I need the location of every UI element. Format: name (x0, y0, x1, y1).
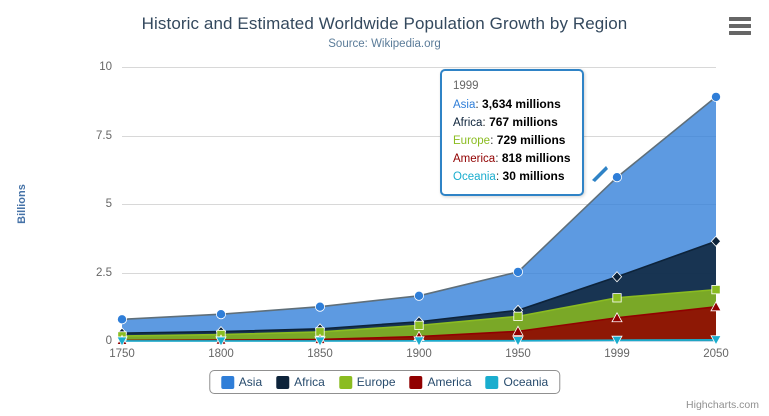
legend-item-africa[interactable]: Africa (276, 375, 325, 389)
x-axis-tick-label: 1999 (604, 348, 630, 360)
x-axis-tick-label: 1950 (505, 348, 531, 360)
legend-swatch-icon (486, 376, 499, 389)
tooltip-series-name: Europe (453, 135, 490, 147)
y-axis-title: Billions (16, 184, 28, 224)
tooltip-row: Asia: 3,634 millions (453, 96, 571, 114)
tooltip-series-name: Africa (453, 117, 482, 129)
menu-bar-1 (729, 17, 751, 21)
tooltip-series-value: 767 millions (489, 115, 558, 129)
tooltip-separator: : (490, 133, 497, 147)
x-axis-tick-label: 1800 (208, 348, 234, 360)
hamburger-menu-icon[interactable] (729, 17, 751, 35)
legend-label: America (428, 375, 472, 389)
legend-item-oceania[interactable]: Oceania (486, 375, 549, 389)
x-axis-tick-label: 1750 (109, 348, 135, 360)
tooltip-series-value: 818 millions (502, 151, 571, 165)
tooltip-series-name: Oceania (453, 171, 496, 183)
tooltip-series-value: 30 millions (503, 169, 565, 183)
legend-label: Oceania (504, 375, 549, 389)
y-axis-tick-label: 5 (106, 198, 112, 210)
legend-item-asia[interactable]: Asia (221, 375, 262, 389)
data-tooltip: 1999 Asia: 3,634 millionsAfrica: 767 mil… (440, 69, 584, 196)
legend-label: Asia (239, 375, 262, 389)
tooltip-row: America: 818 millions (453, 150, 571, 168)
series-layer (122, 67, 716, 341)
legend-swatch-icon (221, 376, 234, 389)
y-axis-tick-label: 10 (99, 61, 112, 73)
legend-swatch-icon (339, 376, 352, 389)
tooltip-rows: Asia: 3,634 millionsAfrica: 767 millions… (453, 96, 571, 186)
tooltip-row: Oceania: 30 millions (453, 168, 571, 186)
legend-swatch-icon (410, 376, 423, 389)
legend-item-europe[interactable]: Europe (339, 375, 396, 389)
chart-title: Historic and Estimated Worldwide Populat… (0, 14, 769, 34)
tooltip-row: Africa: 767 millions (453, 114, 571, 132)
legend-label: Europe (357, 375, 396, 389)
legend-swatch-icon (276, 376, 289, 389)
y-axis-tick-label: 0 (106, 335, 112, 347)
tooltip-series-value: 3,634 millions (482, 97, 561, 111)
highcharts-credit[interactable]: Highcharts.com (686, 399, 759, 411)
tooltip-series-value: 729 millions (497, 133, 566, 147)
tooltip-separator: : (495, 151, 502, 165)
legend-item-america[interactable]: America (410, 375, 472, 389)
tooltip-header: 1999 (453, 78, 571, 96)
tooltip-series-name: Asia (453, 99, 475, 111)
highcharts-container: Historic and Estimated Worldwide Populat… (0, 0, 769, 416)
chart-legend: AsiaAfricaEuropeAmericaOceania (209, 370, 560, 394)
legend-label: Africa (294, 375, 325, 389)
x-axis-tick-label: 1850 (307, 348, 333, 360)
plot-area: 02.557.5101750180018501900195019992050 (122, 67, 716, 341)
x-axis-tick-label: 1900 (406, 348, 432, 360)
tooltip-series-name: America (453, 153, 495, 165)
tooltip-row: Europe: 729 millions (453, 132, 571, 150)
x-axis-tick-label: 2050 (703, 348, 729, 360)
y-axis-tick-label: 7.5 (96, 130, 112, 142)
tooltip-separator: : (496, 169, 503, 183)
menu-bar-2 (729, 24, 751, 28)
tooltip-pointer (592, 166, 610, 184)
y-axis-tick-label: 2.5 (96, 267, 112, 279)
chart-subtitle: Source: Wikipedia.org (0, 38, 769, 50)
menu-bar-3 (729, 31, 751, 35)
